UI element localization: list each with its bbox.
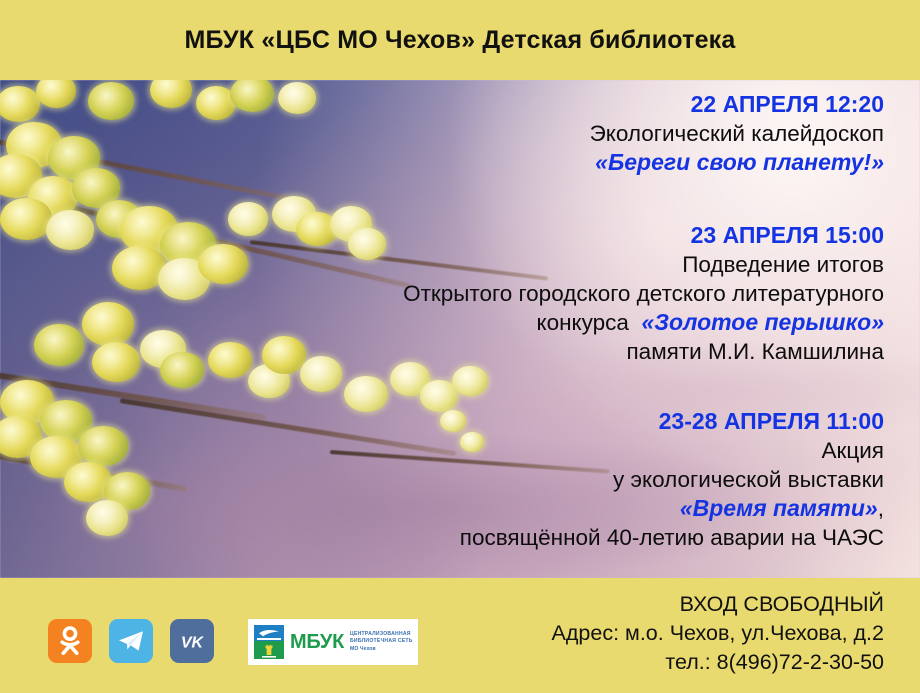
telegram-icon[interactable] — [109, 619, 153, 663]
event-item: 22 АПРЕЛЯ 12:20 Экологический калейдоско… — [300, 89, 884, 177]
event-line: у экологической выставки — [300, 465, 884, 494]
event-item: 23-28 АПРЕЛЯ 11:00 Акция у экологической… — [300, 406, 884, 552]
catkin-blossom — [198, 244, 248, 284]
poster: МБУК «ЦБС МО Чехов» Детская библиотека — [0, 0, 920, 693]
catkin-blossom — [0, 86, 40, 122]
svg-text:VK: VK — [181, 635, 205, 652]
address-label: Адрес: м.о. Чехов, ул.Чехова, д.2 — [552, 619, 884, 648]
catkin-blossom — [82, 302, 134, 346]
event-title: «Время памяти» — [680, 495, 878, 521]
event-item: 23 АПРЕЛЯ 15:00 Подведение итогов Открыт… — [300, 220, 884, 366]
mbuk-logo-sub-line3: МО Чехов — [350, 646, 413, 653]
phone-label: тел.: 8(496)72-2-30-50 — [552, 648, 884, 677]
catkin-blossom — [92, 342, 140, 382]
catkin-blossom — [208, 342, 252, 378]
catkin-blossom — [228, 202, 268, 236]
willow-catkins-photo: 22 АПРЕЛЯ 12:20 Экологический калейдоско… — [0, 80, 920, 578]
contact-info: ВХОД СВОБОДНЫЙ Адрес: м.о. Чехов, ул.Чех… — [552, 590, 884, 677]
event-line: памяти М.И. Камшилина — [300, 337, 884, 366]
event-title-trailing: , — [878, 496, 884, 521]
event-date: 23 АПРЕЛЯ 15:00 — [300, 220, 884, 250]
event-line-prefix: конкурса — [537, 310, 629, 335]
catkin-blossom — [230, 80, 274, 112]
social-links: VK — [48, 619, 214, 663]
page-title: МБУК «ЦБС МО Чехов» Детская библиотека — [184, 26, 735, 55]
catkin-blossom — [160, 352, 204, 388]
catkin-blossom — [78, 426, 128, 466]
odnoklassniki-icon[interactable] — [48, 619, 92, 663]
events-list: 22 АПРЕЛЯ 12:20 Экологический калейдоско… — [300, 80, 884, 578]
event-line: Экологический калейдоскоп — [300, 119, 884, 148]
event-date: 22 АПРЕЛЯ 12:20 — [300, 89, 884, 119]
mbuk-logo: МБУК ЦЕНТРАЛИЗОВАННАЯ БИБЛИОТЕЧНАЯ СЕТЬ … — [248, 619, 418, 665]
header-band: МБУК «ЦБС МО Чехов» Детская библиотека — [0, 0, 920, 80]
catkin-blossom — [46, 210, 94, 250]
catkin-blossom — [88, 82, 134, 120]
event-line: Подведение итогов — [300, 250, 884, 279]
entry-free-label: ВХОД СВОБОДНЫЙ — [552, 590, 884, 619]
vkontakte-icon[interactable]: VK — [170, 619, 214, 663]
mbuk-logo-sub-line1: ЦЕНТРАЛИЗОВАННАЯ — [350, 631, 413, 638]
catkin-blossom — [34, 324, 84, 366]
event-date: 23-28 АПРЕЛЯ 11:00 — [300, 406, 884, 436]
chekhov-coat-of-arms-icon — [254, 625, 284, 659]
event-line: Акция — [300, 436, 884, 465]
event-line: Открытого городского детского литературн… — [300, 279, 884, 308]
catkin-blossom — [86, 500, 128, 536]
event-title: «Береги свою планету!» — [595, 149, 884, 175]
event-title: «Золотое перышко» — [641, 309, 884, 335]
event-line: посвящённой 40-летию аварии на ЧАЭС — [300, 523, 884, 552]
mbuk-logo-subtitle: ЦЕНТРАЛИЗОВАННАЯ БИБЛИОТЕЧНАЯ СЕТЬ МО Че… — [350, 631, 413, 653]
mbuk-logo-sub-line2: БИБЛИОТЕЧНАЯ СЕТЬ — [350, 638, 413, 645]
mbuk-logo-word: МБУК — [290, 632, 344, 652]
catkin-blossom — [0, 198, 52, 240]
